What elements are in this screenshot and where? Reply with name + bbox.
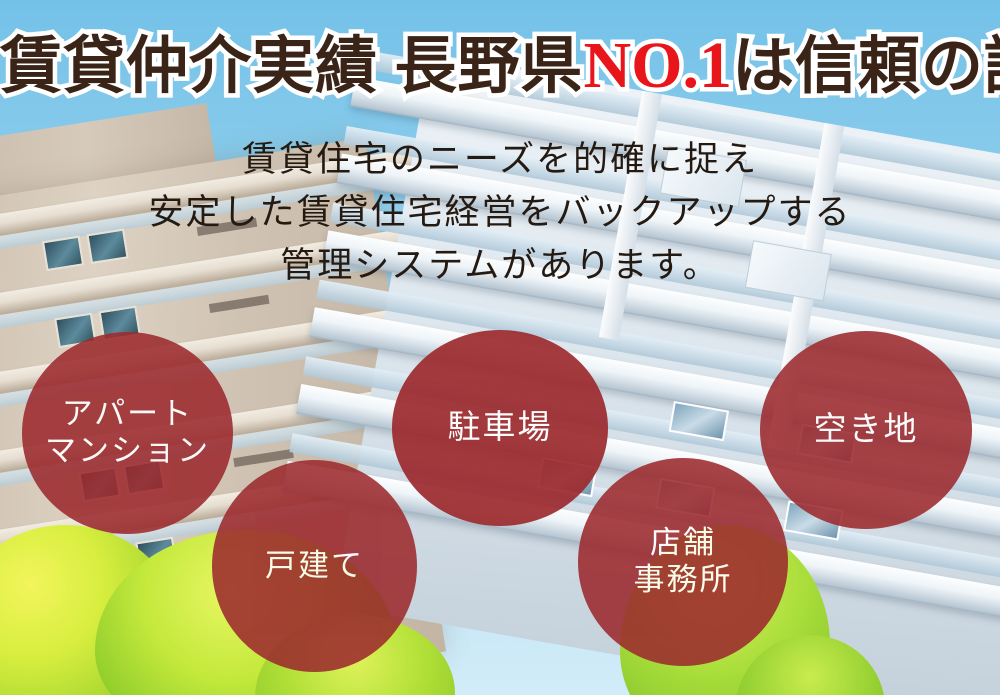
category-circle-shop-office[interactable]: 店舗 事務所 [578,458,788,666]
circle-label-line-1: 駐車場 [448,409,553,448]
circle-label-line-1: 空き地 [814,411,919,450]
circle-label-line-1: 戸建て [265,548,364,585]
headline-post-text: は信頼の証。 [732,33,1000,101]
category-circle-apartment-mansion[interactable]: アパート マンション [22,332,233,534]
category-circle-vacant-land[interactable]: 空き地 [760,331,972,529]
category-circle-detached-house[interactable]: 戸建て [212,460,417,672]
circle-label-line-2: マンション [45,433,210,470]
subheading: 賃貸住宅のニーズを的確に捉え 安定した賃貸住宅経営をバックアップする 管理システ… [0,133,1000,293]
subheading-line-1: 賃貸住宅のニーズを的確に捉え [0,133,1000,186]
subheading-line-3: 管理システムがあります。 [0,239,1000,292]
circle-label-line-2: 事務所 [634,562,733,599]
headline-pre-text: 賃貸仲介実績 長野県 [0,33,584,101]
category-circle-parking-lot[interactable]: 駐車場 [392,330,608,526]
headline-no1-highlight: NO.1 [584,29,733,102]
headline: 賃貸仲介実績 長野県NO.1は信頼の証。 [0,33,1000,99]
real-estate-banner: 賃貸仲介実績 長野県NO.1は信頼の証。 賃貸住宅のニーズを的確に捉え 安定した… [0,0,1000,695]
circle-label-line-1: アパート [45,396,210,433]
subheading-line-2: 安定した賃貸住宅経営をバックアップする [0,186,1000,239]
circle-label-line-1: 店舗 [634,525,733,562]
